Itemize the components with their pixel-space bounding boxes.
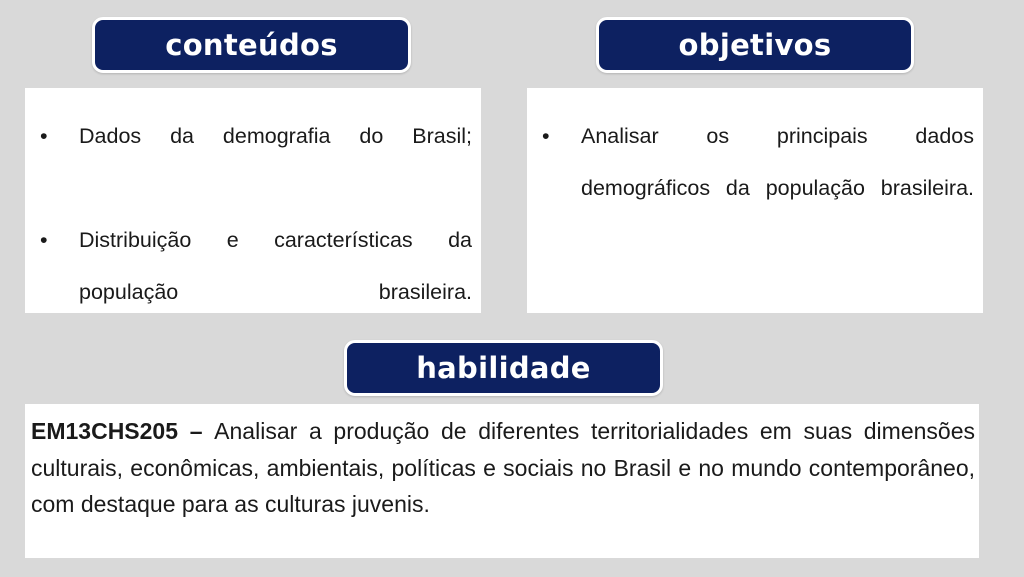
bullet-icon: •: [40, 110, 48, 162]
list-item-text: Analisar os principais dados demográfico…: [581, 110, 974, 266]
list-item: • Analisar os principais dados demográfi…: [536, 110, 974, 266]
list-item-text: Dados da demografia do Brasil;: [79, 110, 472, 214]
habilidade-code: EM13CHS205 –: [31, 418, 214, 444]
slide-canvas: conteúdos objetivos • Dados da demografi…: [0, 0, 1024, 577]
conteudos-bullet-list: • Dados da demografia do Brasil; • Distr…: [34, 110, 472, 370]
list-item: • Dados da demografia do Brasil;: [34, 110, 472, 214]
habilidade-paragraph: EM13CHS205 – Analisar a produção de dife…: [31, 413, 975, 523]
objetivos-bullet-list: • Analisar os principais dados demográfi…: [536, 110, 974, 266]
badge-conteudos: conteúdos: [92, 17, 411, 73]
panel-habilidade: EM13CHS205 – Analisar a produção de dife…: [25, 404, 979, 558]
badge-habilidade: habilidade: [344, 340, 663, 396]
panel-objetivos: • Analisar os principais dados demográfi…: [527, 88, 983, 313]
bullet-icon: •: [542, 110, 550, 162]
bullet-icon: •: [40, 214, 48, 266]
panel-conteudos: • Dados da demografia do Brasil; • Distr…: [25, 88, 481, 313]
badge-objetivos: objetivos: [596, 17, 914, 73]
